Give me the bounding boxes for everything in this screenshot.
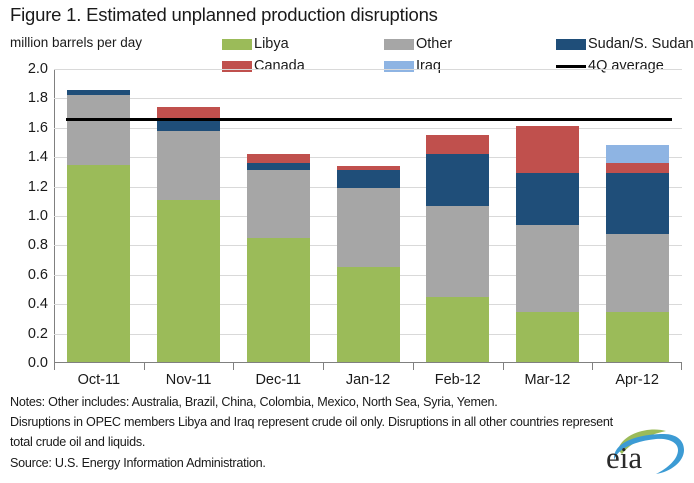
bar-segment-sudan[interactable] [157,121,220,131]
bar-segment-sudan[interactable] [606,173,669,233]
bar-segment-sudan[interactable] [516,173,579,224]
x-axis-tick [592,363,593,370]
note-line-2: Disruptions in OPEC members Libya and Ir… [10,412,610,432]
legend-swatch-other [384,39,414,50]
bar-segment-canada[interactable] [337,166,400,170]
bar-segment-other[interactable] [516,225,579,312]
legend-item-sudan[interactable]: Sudan/S. Sudan [556,37,694,52]
x-axis-tick-label: Apr-12 [592,372,682,388]
bar-segment-sudan[interactable] [426,154,489,205]
bar-segment-libya[interactable] [247,238,310,363]
legend-swatch-libya [222,39,252,50]
bar-segment-sudan[interactable] [247,163,310,170]
x-axis-tick-label: Mar-12 [503,372,593,388]
gridline [54,98,682,99]
x-axis-tick-label: Nov-11 [144,372,234,388]
bar-segment-canada[interactable] [426,135,489,154]
bar-segment-iraq[interactable] [606,145,669,163]
x-axis-tick [323,363,324,370]
bar-group[interactable] [337,166,400,363]
bar-group[interactable] [606,145,669,363]
legend-label-other: Other [416,37,452,52]
note-line-1: Notes: Other includes: Australia, Brazil… [10,392,610,412]
chart-page: Figure 1. Estimated unplanned production… [0,0,694,483]
y-axis-tick-label: 0.2 [14,326,48,342]
gridline [54,69,682,70]
x-axis-tick-labels: Oct-11Nov-11Dec-11Jan-12Feb-12Mar-12Apr-… [54,372,682,392]
legend-label-libya: Libya [254,37,289,52]
bar-segment-libya[interactable] [516,312,579,363]
bar-segment-libya[interactable] [337,267,400,363]
y-axis-tick-label: 2.0 [14,61,48,77]
bar-segment-sudan[interactable] [337,170,400,188]
y-axis-tick-label: 1.8 [14,90,48,106]
y-axis-tick-label: 0.0 [14,355,48,371]
x-axis-tick [54,363,55,370]
x-axis-tick-label: Feb-12 [413,372,503,388]
x-axis-tick [503,363,504,370]
y-axis-unit-label: million barrels per day [10,35,142,50]
bar-group[interactable] [516,126,579,363]
bar-segment-libya[interactable] [606,312,669,363]
legend-item-other[interactable]: Other [384,37,452,52]
bar-group[interactable] [247,154,310,363]
bar-segment-canada[interactable] [606,163,669,173]
y-axis-tick-label: 0.4 [14,296,48,312]
bar-segment-other[interactable] [337,188,400,267]
bar-segment-libya[interactable] [67,165,130,363]
x-axis-tick [413,363,414,370]
x-axis-line [54,362,682,363]
bar-segment-canada[interactable] [247,154,310,163]
eia-wordmark: eia [606,442,642,473]
bar-segment-other[interactable] [247,170,310,238]
y-axis-tick-label: 0.6 [14,267,48,283]
legend-swatch-sudan [556,39,586,50]
y-axis-tick-label: 0.8 [14,237,48,253]
gridline [54,157,682,158]
chart-notes: Notes: Other includes: Australia, Brazil… [10,392,610,473]
y-axis-tick-label: 1.0 [14,208,48,224]
plot-area [54,69,682,363]
bar-segment-other[interactable] [67,95,130,164]
x-axis-tick [681,363,682,370]
bar-segment-canada[interactable] [516,126,579,173]
bar-group[interactable] [157,107,220,363]
y-axis-tick-label: 1.2 [14,179,48,195]
bar-segment-other[interactable] [606,234,669,312]
bar-segment-other[interactable] [426,206,489,297]
legend-line-4q-average [556,65,586,68]
note-source: Source: U.S. Energy Information Administ… [10,453,610,473]
y-axis-tick-label: 1.6 [14,120,48,136]
bar-segment-other[interactable] [157,131,220,200]
x-axis-tick [233,363,234,370]
bar-group[interactable] [67,90,130,363]
x-axis-tick-label: Jan-12 [323,372,413,388]
y-axis-tick-label: 1.4 [14,149,48,165]
x-axis-tick [144,363,145,370]
bar-segment-libya[interactable] [157,200,220,363]
x-axis-tick-label: Dec-11 [233,372,323,388]
x-axis-tick-label: Oct-11 [54,372,144,388]
gridline [54,128,682,129]
note-line-3: total crude oil and liquids. [10,432,610,452]
bar-group[interactable] [426,135,489,363]
bar-segment-libya[interactable] [426,297,489,363]
page-title: Figure 1. Estimated unplanned production… [10,4,438,26]
legend-label-sudan: Sudan/S. Sudan [588,37,694,52]
bar-segment-sudan[interactable] [67,90,130,96]
4q-average-line [66,118,672,121]
legend-item-libya[interactable]: Libya [222,37,289,52]
eia-logo: eia [604,428,690,478]
